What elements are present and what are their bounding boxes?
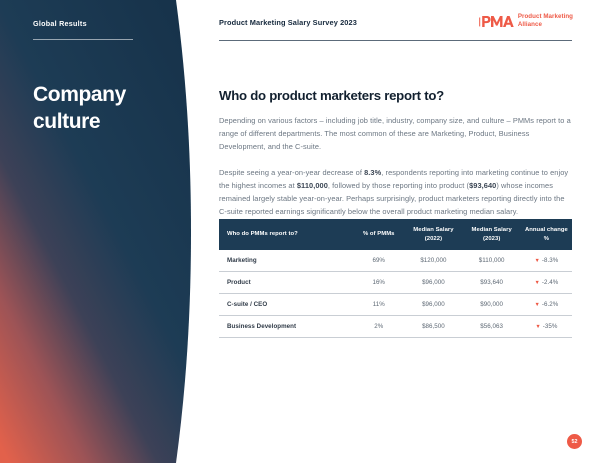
p2-stat-product-salary: $93,640: [469, 181, 496, 190]
p2-stat-decrease: 8.3%: [364, 168, 381, 177]
header-divider: [219, 40, 572, 41]
col-header-annual-change: Annual change %: [521, 219, 572, 250]
cell-annual-change: ▼-2.4%: [521, 272, 572, 294]
cell-annual-change: ▼-6.2%: [521, 294, 572, 316]
cell-pct-pmms: 16%: [353, 272, 404, 294]
cell-department: Product: [219, 272, 353, 294]
cell-median-2022: $120,000: [404, 250, 462, 272]
slide: Global Results Company culture Product M…: [0, 0, 600, 463]
trend-down-icon: ▼: [535, 258, 540, 264]
p2-seg3: , followed by those reporting into produ…: [328, 181, 469, 190]
cell-pct-pmms: 2%: [353, 316, 404, 338]
main-content: Who do product marketers report to? Depe…: [219, 88, 572, 232]
cell-annual-change: ▼-8.3%: [521, 250, 572, 272]
left-gradient-panel: Global Results Company culture: [0, 0, 200, 463]
document-title: Product Marketing Salary Survey 2023: [219, 18, 357, 27]
pma-logo-text: Product Marketing Alliance: [518, 13, 573, 30]
cell-median-2023: $90,000: [463, 294, 521, 316]
cell-median-2022: $86,500: [404, 316, 462, 338]
page-number-badge: 52: [567, 434, 582, 449]
cell-department: Marketing: [219, 250, 353, 272]
trend-down-icon: ▼: [535, 280, 540, 286]
paragraph-intro: Depending on various factors – including…: [219, 115, 572, 154]
table-row: Marketing 69% $120,000 $110,000 ▼-8.3%: [219, 250, 572, 272]
col-header-median-2023: Median Salary (2023): [463, 219, 521, 250]
table-row: Business Development 2% $86,500 $56,063 …: [219, 316, 572, 338]
cell-annual-change-value: -35%: [543, 323, 558, 330]
col-header-department: Who do PMMs report to?: [219, 219, 353, 250]
pma-logomark-icon: [478, 14, 514, 29]
p2-seg1: Despite seeing a year-on-year decrease o…: [219, 168, 364, 177]
salary-table: Who do PMMs report to? % of PMMs Median …: [219, 219, 572, 338]
cell-annual-change-value: -8.3%: [542, 257, 558, 264]
cell-annual-change-value: -2.4%: [542, 279, 558, 286]
col-header-pct-pmms: % of PMMs: [353, 219, 404, 250]
pma-logo-line1: Product Marketing: [518, 13, 573, 21]
page-heading: Who do product marketers report to?: [219, 88, 572, 103]
cell-pct-pmms: 69%: [353, 250, 404, 272]
trend-down-icon: ▼: [535, 324, 540, 330]
cell-pct-pmms: 11%: [353, 294, 404, 316]
cell-median-2023: $110,000: [463, 250, 521, 272]
p2-stat-marketing-salary: $110,000: [297, 181, 328, 190]
cell-median-2022: $96,000: [404, 294, 462, 316]
section-title: Company culture: [33, 82, 183, 136]
paragraph-analysis: Despite seeing a year-on-year decrease o…: [219, 167, 572, 219]
trend-down-icon: ▼: [535, 302, 540, 308]
cell-annual-change-value: -6.2%: [542, 301, 558, 308]
cell-median-2023: $93,640: [463, 272, 521, 294]
cell-department: Business Development: [219, 316, 353, 338]
cell-median-2023: $56,063: [463, 316, 521, 338]
table-row: C-suite / CEO 11% $96,000 $90,000 ▼-6.2%: [219, 294, 572, 316]
table-row: Product 16% $96,000 $93,640 ▼-2.4%: [219, 272, 572, 294]
col-header-median-2022: Median Salary (2022): [404, 219, 462, 250]
pma-logo[interactable]: Product Marketing Alliance: [478, 13, 573, 30]
pma-logo-line2: Alliance: [518, 21, 573, 29]
cell-department: C-suite / CEO: [219, 294, 353, 316]
cell-median-2022: $96,000: [404, 272, 462, 294]
table-head: Who do PMMs report to? % of PMMs Median …: [219, 219, 572, 250]
eyebrow-divider: [33, 39, 133, 40]
table-body: Marketing 69% $120,000 $110,000 ▼-8.3% P…: [219, 250, 572, 338]
cell-annual-change: ▼-35%: [521, 316, 572, 338]
table-header-row: Who do PMMs report to? % of PMMs Median …: [219, 219, 572, 250]
eyebrow-label: Global Results: [33, 19, 87, 28]
